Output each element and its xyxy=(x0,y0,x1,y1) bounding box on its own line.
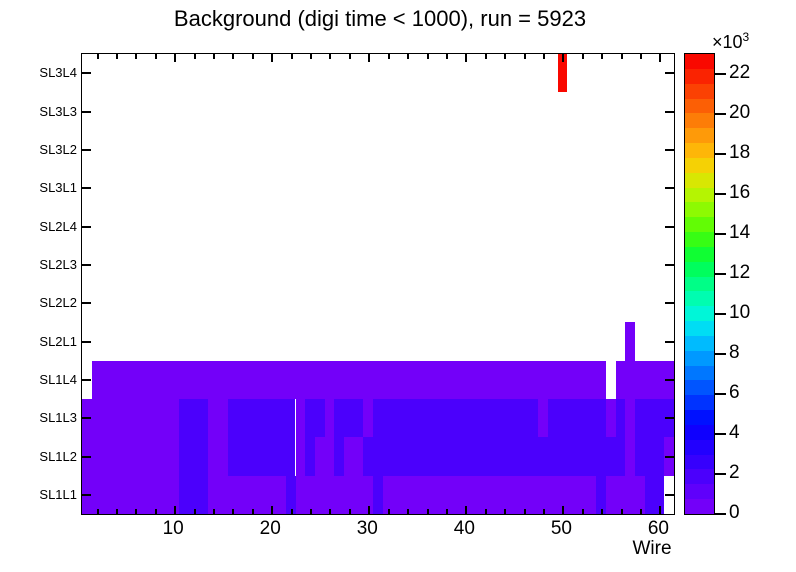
heatmap-cell xyxy=(616,399,626,437)
x-axis-tick xyxy=(465,54,467,62)
color-axis-tick xyxy=(715,313,726,315)
y-axis-tick xyxy=(82,72,91,74)
x-axis-tick xyxy=(446,54,448,59)
y-axis-tick xyxy=(665,302,674,304)
x-axis-tick-label: 40 xyxy=(434,518,494,540)
x-axis-tick xyxy=(562,54,564,62)
x-axis-tick xyxy=(601,509,603,514)
palette-band xyxy=(685,439,714,454)
x-axis-tick xyxy=(271,506,273,514)
heatmap-cell xyxy=(228,399,296,437)
palette-band xyxy=(685,202,714,217)
color-axis-exponent: ×103 xyxy=(712,30,749,53)
heatmap-cells xyxy=(82,54,674,514)
y-axis-label-sl1l3: SL1L3 xyxy=(3,410,77,425)
x-axis-tick xyxy=(329,54,331,59)
heatmap-cell xyxy=(625,322,635,360)
palette-band xyxy=(685,187,714,202)
palette-band xyxy=(685,276,714,291)
x-axis-tick xyxy=(640,54,642,59)
x-axis-tick xyxy=(659,54,661,62)
page-title: Background (digi time < 1000), run = 592… xyxy=(0,6,760,32)
palette-band xyxy=(685,157,714,172)
x-axis-tick xyxy=(291,54,293,59)
color-palette-bar[interactable] xyxy=(684,53,715,515)
palette-band xyxy=(685,98,714,113)
heatmap-cell xyxy=(208,399,227,437)
palette-band xyxy=(685,68,714,83)
x-axis-tick xyxy=(621,54,623,59)
x-axis-tick xyxy=(291,509,293,514)
heatmap-cell xyxy=(363,437,625,475)
y-axis-label-sl3l1: SL3L1 xyxy=(3,180,77,195)
x-axis-tick xyxy=(271,54,273,62)
heatmap-cell xyxy=(334,437,344,475)
palette-band xyxy=(685,53,714,68)
palette-band xyxy=(685,172,714,187)
x-axis-tick xyxy=(155,54,157,59)
color-axis-tick xyxy=(715,73,726,75)
y-axis-tick xyxy=(82,494,91,496)
x-axis-tick xyxy=(252,509,254,514)
x-axis-tick xyxy=(310,54,312,59)
x-axis-tick xyxy=(194,54,196,59)
heatmap-cell xyxy=(296,399,306,437)
heatmap-cell xyxy=(373,399,538,437)
y-axis-tick xyxy=(665,456,674,458)
x-axis-tick xyxy=(582,54,584,59)
x-axis-tick-label: 50 xyxy=(531,518,591,540)
x-axis-tick xyxy=(135,509,137,514)
palette-band xyxy=(685,217,714,232)
y-axis-tick xyxy=(665,111,674,113)
heatmap-cell xyxy=(334,399,363,437)
y-axis-label-sl3l3: SL3L3 xyxy=(3,104,77,119)
heatmap-cell xyxy=(305,437,315,475)
x-axis-tick xyxy=(543,509,545,514)
y-axis-label-sl2l1: SL2L1 xyxy=(3,334,77,349)
heatmap-cell xyxy=(344,437,363,475)
color-axis-tick xyxy=(715,113,726,115)
y-axis-tick xyxy=(82,264,91,266)
y-axis-label-sl2l3: SL2L3 xyxy=(3,257,77,272)
x-axis-tick-labels: 102030405060 xyxy=(81,518,675,548)
x-axis-tick xyxy=(504,54,506,59)
palette-band xyxy=(685,499,714,514)
x-axis-tick xyxy=(232,509,234,514)
x-axis-tick xyxy=(562,506,564,514)
palette-band xyxy=(685,306,714,321)
palette-band xyxy=(685,410,714,425)
y-axis-label-sl1l4: SL1L4 xyxy=(3,372,77,387)
x-axis-tick xyxy=(621,509,623,514)
x-axis-tick xyxy=(407,54,409,59)
x-axis-tick-label: 10 xyxy=(143,518,203,540)
heatmap-cell xyxy=(179,399,208,437)
y-axis-tick xyxy=(82,149,91,151)
y-axis-label-sl2l2: SL2L2 xyxy=(3,295,77,310)
x-axis-tick xyxy=(427,54,429,59)
color-axis-tick-label: 12 xyxy=(729,263,750,282)
color-axis-labels: 0246810121416182022 xyxy=(715,53,795,515)
palette-band xyxy=(685,128,714,143)
color-axis-tick-label: 4 xyxy=(729,423,740,442)
heatmap-cell xyxy=(538,399,548,437)
x-axis-tick xyxy=(174,54,176,62)
y-axis-tick xyxy=(665,187,674,189)
x-axis-tick xyxy=(116,54,118,59)
y-axis-label-sl3l4: SL3L4 xyxy=(3,65,77,80)
heatmap-cell xyxy=(305,399,324,437)
color-axis-tick-label: 14 xyxy=(729,223,750,242)
y-axis-tick xyxy=(665,72,674,74)
heatmap-cell xyxy=(179,437,208,475)
heatmap-cell xyxy=(208,476,286,514)
color-axis-tick-label: 10 xyxy=(729,303,750,322)
color-axis-tick-label: 18 xyxy=(729,143,750,162)
heatmap-cell xyxy=(625,399,635,437)
heatmap-cell xyxy=(373,476,383,514)
heatmap-cell xyxy=(325,399,335,437)
heatmap-cell xyxy=(92,361,606,399)
x-axis-tick xyxy=(388,54,390,59)
x-axis-tick xyxy=(232,54,234,59)
x-axis-tick xyxy=(310,509,312,514)
y-axis-tick xyxy=(82,187,91,189)
color-axis-tick xyxy=(715,273,726,275)
x-axis-tick xyxy=(194,509,196,514)
color-axis-exponent-power: 3 xyxy=(743,30,750,44)
x-axis-tick xyxy=(543,54,545,59)
color-axis-tick xyxy=(715,193,726,195)
palette-band xyxy=(685,469,714,484)
color-axis-tick xyxy=(715,153,726,155)
x-axis-tick xyxy=(601,54,603,59)
y-axis-tick xyxy=(82,341,91,343)
x-axis-tick xyxy=(640,509,642,514)
root-canvas: Background (digi time < 1000), run = 592… xyxy=(0,0,796,572)
color-axis-tick xyxy=(715,433,726,435)
y-axis-tick xyxy=(82,302,91,304)
y-axis-tick xyxy=(665,149,674,151)
y-axis-tick xyxy=(82,417,91,419)
palette-band xyxy=(685,335,714,350)
palette-band xyxy=(685,113,714,128)
y-axis-tick xyxy=(665,226,674,228)
y-axis-labels: SL1L1SL1L2SL1L3SL1L4SL2L1SL2L2SL2L3SL2L4… xyxy=(0,53,77,515)
y-axis-label-sl1l2: SL1L2 xyxy=(3,449,77,464)
heatmap-cell xyxy=(228,437,296,475)
x-axis-tick xyxy=(524,54,526,59)
x-axis-tick xyxy=(97,54,99,59)
y-axis-tick xyxy=(665,264,674,266)
x-axis-tick xyxy=(427,509,429,514)
x-axis-tick xyxy=(659,506,661,514)
x-axis-title: Wire xyxy=(612,538,692,560)
color-axis-tick xyxy=(715,393,726,395)
x-axis-tick xyxy=(368,506,370,514)
x-axis-tick xyxy=(407,509,409,514)
palette-band xyxy=(685,365,714,380)
color-axis-tick-label: 20 xyxy=(729,103,750,122)
color-axis-tick-label: 0 xyxy=(729,503,740,522)
x-axis-tick xyxy=(155,509,157,514)
x-axis-tick xyxy=(349,54,351,59)
x-axis-tick xyxy=(329,509,331,514)
color-axis-tick xyxy=(715,233,726,235)
heatmap-cell xyxy=(208,437,227,475)
color-axis-tick xyxy=(715,473,726,475)
x-axis-tick xyxy=(485,509,487,514)
color-axis-exponent-mantissa: ×10 xyxy=(712,32,743,52)
x-axis-tick xyxy=(485,54,487,59)
palette-band xyxy=(685,484,714,499)
palette-band xyxy=(685,454,714,469)
y-axis-label-sl3l2: SL3L2 xyxy=(3,142,77,157)
palette-band xyxy=(685,424,714,439)
color-axis-tick xyxy=(715,513,726,515)
histogram-frame[interactable] xyxy=(81,53,675,515)
x-axis-tick xyxy=(465,506,467,514)
x-axis-tick-label: 30 xyxy=(337,518,397,540)
x-axis-tick xyxy=(446,509,448,514)
x-axis-tick xyxy=(213,509,215,514)
y-axis-tick xyxy=(665,379,674,381)
x-axis-tick xyxy=(368,54,370,62)
y-axis-tick xyxy=(82,379,91,381)
color-axis-tick-label: 8 xyxy=(729,343,740,362)
y-axis-tick xyxy=(665,494,674,496)
palette-band xyxy=(685,380,714,395)
heatmap-cell xyxy=(625,437,635,475)
palette-band xyxy=(685,395,714,410)
y-axis-tick xyxy=(665,417,674,419)
color-axis-tick-label: 22 xyxy=(729,63,750,82)
palette-band xyxy=(685,231,714,246)
y-axis-label-sl1l1: SL1L1 xyxy=(3,487,77,502)
heatmap-cell xyxy=(296,476,374,514)
x-axis-tick xyxy=(504,509,506,514)
x-axis-tick xyxy=(582,509,584,514)
x-axis-tick xyxy=(349,509,351,514)
y-axis-tick xyxy=(82,111,91,113)
palette-band xyxy=(685,142,714,157)
x-axis-tick xyxy=(252,54,254,59)
x-axis-tick xyxy=(388,509,390,514)
x-axis-tick xyxy=(135,54,137,59)
heatmap-cell xyxy=(315,437,334,475)
color-axis-tick xyxy=(715,353,726,355)
x-axis-tick xyxy=(97,509,99,514)
palette-band xyxy=(685,321,714,336)
heatmap-cell xyxy=(548,399,606,437)
x-axis-tick-label: 60 xyxy=(628,518,688,540)
heatmap-cell xyxy=(606,399,616,437)
y-axis-tick xyxy=(665,341,674,343)
y-axis-label-sl2l4: SL2L4 xyxy=(3,219,77,234)
heatmap-cell xyxy=(296,437,306,475)
color-axis-tick-label: 16 xyxy=(729,183,750,202)
heatmap-cell xyxy=(82,399,179,437)
palette-band xyxy=(685,350,714,365)
y-axis-tick xyxy=(82,456,91,458)
palette-band xyxy=(685,246,714,261)
color-axis-tick-label: 2 xyxy=(729,463,740,482)
palette-band xyxy=(685,83,714,98)
x-axis-tick xyxy=(174,506,176,514)
heatmap-cell xyxy=(363,399,373,437)
palette-band xyxy=(685,261,714,276)
x-axis-tick xyxy=(213,54,215,59)
heatmap-cell xyxy=(635,437,664,475)
color-axis-tick-label: 6 xyxy=(729,383,740,402)
x-axis-tick-label: 20 xyxy=(240,518,300,540)
heatmap-cell xyxy=(82,437,179,475)
x-axis-tick xyxy=(524,509,526,514)
x-axis-tick xyxy=(116,509,118,514)
palette-band xyxy=(685,291,714,306)
y-axis-tick xyxy=(82,226,91,228)
